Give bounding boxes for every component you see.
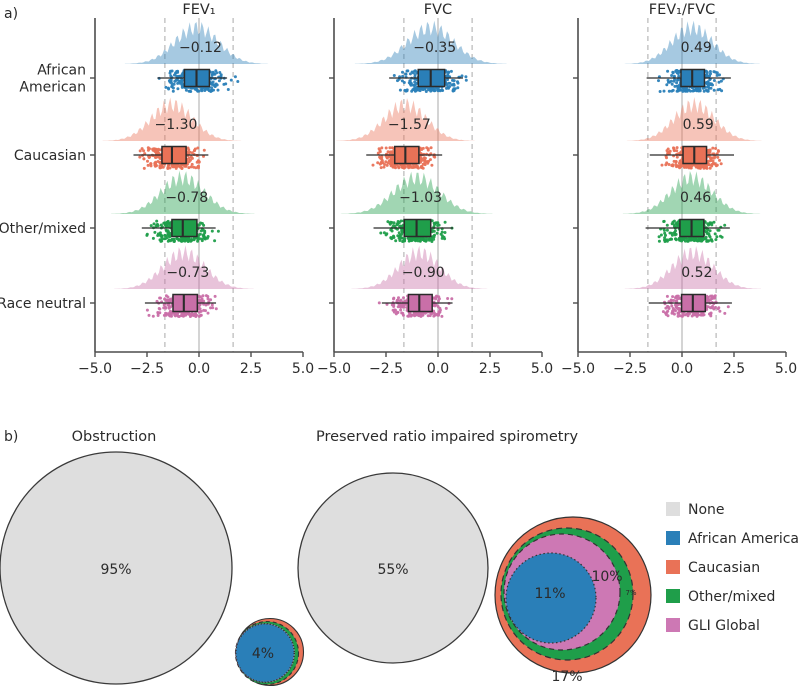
x-tick-label: −2.5: [613, 361, 647, 377]
data-point: [682, 237, 685, 240]
data-point: [390, 236, 393, 239]
legend-item-caucasian[interactable]: Caucasian: [666, 560, 760, 576]
legend-item-gli-global[interactable]: GLI Global: [666, 618, 760, 634]
data-point: [666, 149, 669, 152]
data-point: [675, 81, 678, 84]
data-point: [414, 89, 417, 92]
panel-b-title-obstruction: Obstruction: [72, 429, 157, 445]
data-point: [172, 90, 175, 93]
data-point: [417, 314, 420, 317]
median-value-label: −0.78: [165, 190, 208, 206]
y-axis-labels: AfricanAmericanCaucasianOther/mixedRace …: [0, 63, 86, 313]
data-point: [721, 236, 724, 239]
prism-none-label: 55%: [377, 562, 408, 578]
y-axis-label-caucasian: Caucasian: [14, 148, 86, 164]
data-point: [706, 90, 709, 93]
data-point: [397, 296, 400, 299]
data-point: [410, 90, 413, 93]
data-point: [671, 295, 674, 298]
data-point: [401, 71, 404, 74]
y-axis-label-african-american: African: [37, 63, 86, 79]
data-point: [658, 240, 661, 243]
group-african-american-fvc: −0.35: [355, 21, 507, 93]
data-point: [662, 220, 665, 223]
group-african-american-fev1: −0.12: [125, 22, 268, 93]
prism-circles: 55%11%10%7%17%: [298, 473, 651, 685]
data-point: [218, 79, 221, 82]
data-point: [674, 304, 677, 307]
x-tick-label: −5.0: [561, 361, 595, 377]
data-point: [384, 160, 387, 163]
data-point: [720, 162, 723, 165]
data-point: [660, 234, 663, 237]
data-point: [389, 160, 392, 163]
data-point: [396, 311, 399, 314]
data-point: [170, 82, 173, 85]
obstruction-circles: 95%4%: [0, 452, 304, 686]
data-point: [450, 297, 453, 300]
data-point: [426, 238, 429, 241]
data-point: [393, 165, 396, 168]
x-tick-label: 2.5: [240, 361, 262, 377]
data-point: [160, 224, 163, 227]
median-value-label: 0.46: [680, 190, 711, 206]
panel-a-letter: a): [4, 6, 18, 22]
data-point: [142, 149, 145, 152]
data-point: [148, 314, 151, 317]
x-tick-label: 5.0: [775, 361, 797, 377]
data-point: [666, 295, 669, 298]
data-point: [710, 82, 713, 85]
median-value-label: 0.52: [681, 265, 712, 281]
median-value-label: 0.59: [683, 117, 714, 133]
data-point: [396, 299, 399, 302]
data-point: [664, 312, 667, 315]
data-point: [443, 236, 446, 239]
legend-swatch: [666, 560, 680, 574]
data-point: [405, 73, 408, 76]
data-point: [194, 166, 197, 169]
data-point: [392, 236, 395, 239]
data-point: [179, 166, 182, 169]
data-point: [173, 314, 176, 317]
data-point: [445, 307, 448, 310]
data-point: [714, 71, 717, 74]
data-point: [706, 222, 709, 225]
data-point: [188, 160, 191, 163]
data-point: [674, 309, 677, 312]
data-point: [457, 82, 460, 85]
data-point: [202, 294, 205, 297]
data-point: [716, 156, 719, 159]
obstruction-none-label: 95%: [100, 562, 131, 578]
data-point: [714, 232, 717, 235]
data-point: [727, 305, 730, 308]
data-point: [667, 81, 670, 84]
data-point: [191, 157, 194, 160]
data-point: [671, 312, 674, 315]
data-point: [413, 81, 416, 84]
data-point: [211, 306, 214, 309]
data-point: [439, 89, 442, 92]
data-point: [414, 239, 417, 242]
data-point: [193, 149, 196, 152]
data-point: [708, 234, 711, 237]
legend-label: None: [688, 502, 725, 518]
data-point: [709, 157, 712, 160]
data-point: [393, 221, 396, 224]
y-axis-label-other-mixed: Other/mixed: [0, 221, 86, 237]
data-point: [146, 160, 149, 163]
legend-swatch: [666, 531, 680, 545]
data-point: [139, 149, 142, 152]
data-point: [403, 81, 406, 84]
data-point: [152, 237, 155, 240]
data-point: [379, 163, 382, 166]
data-point: [399, 89, 402, 92]
data-point: [674, 233, 677, 236]
data-point: [200, 229, 203, 232]
data-point: [720, 80, 723, 83]
prism-gli-global-label: 10%: [591, 569, 622, 585]
data-point: [157, 148, 160, 151]
data-point: [214, 295, 217, 298]
data-point: [206, 295, 209, 298]
data-point: [435, 303, 438, 306]
data-point: [378, 147, 381, 150]
data-point: [705, 230, 708, 233]
data-point: [688, 89, 691, 92]
data-point: [388, 151, 391, 154]
data-point: [210, 86, 213, 89]
data-point: [697, 313, 700, 316]
data-point: [440, 233, 443, 236]
data-point: [372, 164, 375, 167]
data-point: [447, 82, 450, 85]
data-point: [389, 223, 392, 226]
group-other-mixed-fev1_fvc: 0.46: [623, 171, 760, 243]
data-point: [202, 300, 205, 303]
legend: NoneAfrican AmericanCaucasianOther/mixed…: [666, 502, 798, 634]
data-point: [167, 229, 170, 232]
y-axis-label-race-neutral: Race neutral: [0, 296, 86, 312]
data-point: [204, 309, 207, 312]
x-tick-label: −2.5: [369, 361, 403, 377]
data-point: [191, 314, 194, 317]
subpanel-title-fev1_fvc: FEV₁/FVC: [649, 2, 716, 18]
data-point: [709, 314, 712, 317]
data-point: [234, 75, 237, 78]
data-point: [666, 224, 669, 227]
data-point: [185, 312, 188, 315]
data-point: [664, 163, 667, 166]
median-value-label: −1.03: [399, 190, 442, 206]
data-point: [675, 222, 678, 225]
data-point: [444, 221, 447, 224]
data-point: [213, 83, 216, 86]
data-point: [674, 237, 677, 240]
data-point: [211, 303, 214, 306]
data-point: [182, 239, 185, 242]
data-point: [714, 238, 717, 241]
data-point: [393, 311, 396, 314]
data-point: [673, 80, 676, 83]
data-point: [678, 166, 681, 169]
legend-swatch: [666, 618, 680, 632]
data-point: [215, 307, 218, 310]
data-point: [667, 314, 670, 317]
data-point: [700, 314, 703, 317]
legend-label: African American: [688, 531, 798, 547]
data-point: [166, 296, 169, 299]
data-point: [413, 165, 416, 168]
data-point: [678, 162, 681, 165]
x-tick-label: −5.0: [317, 361, 351, 377]
data-point: [176, 87, 179, 90]
data-point: [663, 229, 666, 232]
data-point: [379, 157, 382, 160]
data-point: [189, 90, 192, 93]
data-point: [686, 165, 689, 168]
subpanel-fev1_fvc: FEV₁/FVC−5.0−2.50.02.55.00.490.590.460.5…: [561, 2, 797, 377]
data-point: [714, 294, 717, 297]
data-point: [403, 237, 406, 240]
data-point: [692, 237, 695, 240]
data-point: [714, 306, 717, 309]
data-point: [699, 237, 702, 240]
data-point: [670, 90, 673, 93]
data-point: [230, 79, 233, 82]
boxplot: [145, 295, 216, 312]
data-point: [198, 304, 201, 307]
data-point: [399, 306, 402, 309]
x-tick-label: 0.0: [188, 361, 210, 377]
data-point: [197, 159, 200, 162]
data-point: [674, 70, 677, 73]
x-tick-label: 5.0: [292, 361, 314, 377]
data-point: [227, 88, 230, 91]
data-point: [670, 74, 673, 77]
obstruction-race-label: 4%: [252, 646, 274, 662]
data-point: [679, 239, 682, 242]
data-point: [666, 70, 669, 73]
data-point: [669, 232, 672, 235]
data-point: [173, 80, 176, 83]
data-point: [167, 240, 170, 243]
data-point: [185, 89, 188, 92]
data-point: [200, 88, 203, 91]
data-point: [207, 312, 210, 315]
data-point: [394, 239, 397, 242]
data-point: [386, 164, 389, 167]
data-point: [433, 223, 436, 226]
data-point: [663, 90, 666, 93]
data-point: [671, 234, 674, 237]
box-iqr: [162, 147, 186, 164]
data-point: [672, 299, 675, 302]
median-value-label: −1.57: [388, 117, 431, 133]
data-point: [416, 166, 419, 169]
data-point: [718, 159, 721, 162]
data-point: [430, 164, 433, 167]
median-value-label: −1.30: [155, 117, 198, 133]
data-point: [155, 223, 158, 226]
data-point: [709, 167, 712, 170]
data-point: [713, 89, 716, 92]
data-point: [422, 88, 425, 91]
prism-african-american-label: 11%: [534, 586, 565, 602]
data-point: [657, 79, 660, 82]
data-point: [212, 72, 215, 75]
data-point: [420, 315, 423, 318]
data-point: [688, 312, 691, 315]
data-point: [716, 164, 719, 167]
figure-root: a)FEV₁−5.0−2.50.02.55.0−0.12−1.30−0.78−0…: [0, 0, 798, 689]
data-point: [167, 164, 170, 167]
data-point: [397, 222, 400, 225]
data-point: [201, 222, 204, 225]
data-point: [668, 238, 671, 241]
legend-item-other-mixed[interactable]: Other/mixed: [666, 589, 775, 605]
group-race-neutral-fev1_fvc: 0.52: [625, 246, 761, 318]
data-point: [143, 167, 146, 170]
y-axis-label-african-american: American: [19, 80, 86, 96]
x-tick-label: −5.0: [78, 361, 112, 377]
data-point: [697, 89, 700, 92]
data-point: [412, 71, 415, 74]
data-point: [423, 159, 426, 162]
data-point: [155, 220, 158, 223]
x-tick-label: 0.0: [671, 361, 693, 377]
data-point: [168, 307, 171, 310]
data-point: [453, 79, 456, 82]
data-point: [676, 146, 679, 149]
legend-item-african-american[interactable]: African American: [666, 531, 798, 547]
data-point: [211, 230, 214, 233]
data-point: [197, 165, 200, 168]
figure-canvas: a)FEV₁−5.0−2.50.02.55.0−0.12−1.30−0.78−0…: [0, 0, 798, 689]
subpanel-title-fvc: FVC: [424, 2, 452, 18]
data-point: [667, 306, 670, 309]
data-point: [718, 88, 721, 91]
subpanel-fvc: FVC−5.0−2.50.02.55.0−0.35−1.57−1.03−0.90: [317, 2, 553, 377]
legend-label: Caucasian: [688, 560, 760, 576]
data-point: [723, 312, 726, 315]
data-point: [710, 87, 713, 90]
data-point: [148, 147, 151, 150]
data-point: [206, 237, 209, 240]
data-point: [669, 150, 672, 153]
group-caucasian-fev1_fvc: 0.59: [627, 97, 762, 170]
data-point: [236, 80, 239, 83]
data-point: [425, 90, 428, 93]
data-point: [160, 240, 163, 243]
data-point: [423, 156, 426, 159]
median-value-label: −0.35: [413, 40, 456, 56]
data-point: [668, 163, 671, 166]
data-point: [435, 296, 438, 299]
data-point: [675, 295, 678, 298]
data-point: [187, 313, 190, 316]
data-point: [674, 229, 677, 232]
data-point: [446, 297, 449, 300]
data-point: [152, 315, 155, 318]
median-value-label: 0.49: [681, 40, 712, 56]
data-point: [383, 166, 386, 169]
data-point: [217, 230, 220, 233]
data-point: [434, 89, 437, 92]
data-point: [163, 234, 166, 237]
data-point: [397, 166, 400, 169]
group-caucasian-fvc: −1.57: [336, 98, 475, 170]
group-african-american-fev1_fvc: 0.49: [625, 21, 760, 93]
legend-item-none[interactable]: None: [666, 502, 725, 518]
data-point: [222, 83, 225, 86]
data-point: [187, 166, 190, 169]
data-point: [680, 151, 683, 154]
data-point: [403, 165, 406, 168]
data-point: [379, 232, 382, 235]
data-point: [160, 234, 163, 237]
data-point: [198, 315, 201, 318]
data-point: [167, 88, 170, 91]
data-point: [437, 314, 440, 317]
data-point: [153, 231, 156, 234]
data-point: [181, 86, 184, 89]
data-point: [444, 231, 447, 234]
data-point: [422, 167, 425, 170]
data-point: [158, 308, 161, 311]
data-point: [147, 164, 150, 167]
data-point: [432, 235, 435, 238]
data-point: [670, 305, 673, 308]
x-tick-label: 5.0: [531, 361, 553, 377]
data-point: [429, 158, 432, 161]
data-point: [383, 163, 386, 166]
x-tick-label: 0.0: [427, 361, 449, 377]
data-point: [400, 299, 403, 302]
data-point: [723, 224, 726, 227]
data-point: [203, 89, 206, 92]
data-point: [165, 299, 168, 302]
legend-swatch: [666, 502, 680, 516]
legend-label: Other/mixed: [688, 589, 775, 605]
data-point: [705, 236, 708, 239]
data-point: [172, 240, 175, 243]
data-point: [715, 235, 718, 238]
data-point: [708, 75, 711, 78]
data-point: [151, 148, 154, 151]
data-point: [703, 90, 706, 93]
data-point: [166, 312, 169, 315]
data-point: [409, 72, 412, 75]
data-point: [461, 74, 464, 77]
data-point: [189, 240, 192, 243]
data-point: [710, 223, 713, 226]
data-point: [429, 87, 432, 90]
data-point: [191, 163, 194, 166]
data-point: [673, 149, 676, 152]
data-point: [453, 84, 456, 87]
data-point: [434, 313, 437, 316]
subpanel-title-fev1: FEV₁: [182, 2, 215, 18]
data-point: [440, 315, 443, 318]
data-point: [430, 146, 433, 149]
data-point: [713, 79, 716, 82]
data-point: [176, 71, 179, 74]
panel-b-letter: b): [4, 429, 18, 445]
data-point: [686, 240, 689, 243]
